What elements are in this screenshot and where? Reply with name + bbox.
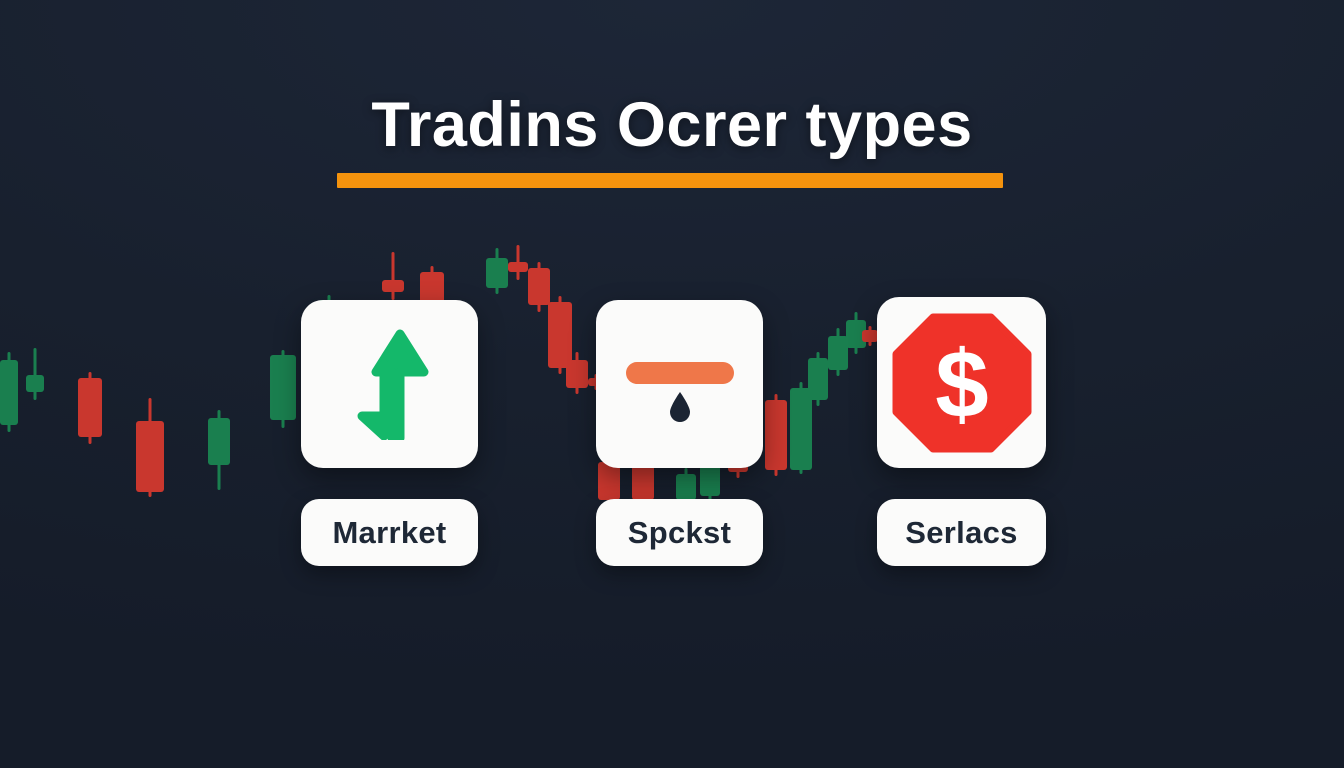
candlestick-wick bbox=[149, 398, 152, 497]
candlestick bbox=[208, 410, 230, 490]
candlestick-body bbox=[382, 280, 404, 292]
candlestick-body bbox=[548, 302, 572, 368]
order-type-label-stop-loss-text: Serlacs bbox=[905, 515, 1017, 551]
candlestick bbox=[528, 262, 550, 312]
candlestick bbox=[846, 312, 866, 354]
candlestick bbox=[26, 348, 44, 400]
candlestick-body bbox=[26, 375, 44, 392]
candlestick-wick bbox=[517, 245, 520, 280]
candlestick-wick bbox=[282, 350, 285, 428]
order-type-card-stop[interactable] bbox=[596, 300, 763, 468]
slide-canvas: Tradins Ocrer types Marrket Spckst bbox=[0, 0, 1344, 768]
candlestick-body bbox=[78, 378, 102, 437]
candlestick-body bbox=[765, 400, 787, 470]
order-type-label-market-text: Marrket bbox=[332, 515, 446, 551]
candlestick-body bbox=[790, 388, 812, 470]
candlestick-body bbox=[486, 258, 508, 288]
candlestick-body bbox=[270, 355, 296, 420]
candlestick bbox=[790, 382, 812, 474]
candlestick-wick bbox=[538, 262, 541, 312]
title-block: Tradins Ocrer types bbox=[0, 92, 1344, 158]
candlestick-body bbox=[508, 262, 528, 272]
candlestick-wick bbox=[869, 326, 872, 346]
order-type-card-market[interactable] bbox=[301, 300, 478, 468]
candlestick-wick bbox=[34, 348, 37, 400]
candlestick bbox=[382, 252, 404, 300]
candlestick bbox=[862, 326, 878, 346]
candlestick bbox=[0, 352, 18, 432]
candlestick-wick bbox=[559, 296, 562, 374]
candlestick-wick bbox=[576, 352, 579, 394]
candlestick-body bbox=[528, 268, 550, 305]
page-title: Tradins Ocrer types bbox=[0, 92, 1344, 158]
order-type-label-stop[interactable]: Spckst bbox=[596, 499, 763, 566]
candlestick bbox=[508, 245, 528, 280]
candlestick-wick bbox=[775, 394, 778, 476]
title-underline-bar bbox=[337, 173, 1003, 188]
candlestick bbox=[566, 352, 588, 394]
candlestick-wick bbox=[817, 352, 820, 406]
candlestick-wick bbox=[855, 312, 858, 354]
candlestick-wick bbox=[837, 328, 840, 376]
order-type-card-stop-loss[interactable]: $ bbox=[877, 297, 1046, 468]
order-type-label-stop-text: Spckst bbox=[628, 515, 731, 551]
candlestick-body bbox=[136, 421, 164, 492]
candlestick-body bbox=[828, 336, 848, 370]
candlestick-body bbox=[846, 320, 866, 348]
candlestick-wick bbox=[8, 352, 11, 432]
candlestick bbox=[486, 248, 508, 294]
svg-text:$: $ bbox=[935, 331, 988, 438]
candlestick-body bbox=[700, 464, 720, 496]
candlestick-body bbox=[0, 360, 18, 425]
candlestick bbox=[548, 296, 572, 374]
stop-sign-dollar-icon: $ bbox=[892, 313, 1032, 453]
order-type-label-stop-loss[interactable]: Serlacs bbox=[877, 499, 1046, 566]
candlestick-body bbox=[808, 358, 828, 400]
candlestick-wick bbox=[89, 372, 92, 444]
candlestick bbox=[78, 372, 102, 444]
candlestick bbox=[270, 350, 296, 428]
candlestick bbox=[828, 328, 848, 376]
candlestick bbox=[765, 394, 787, 476]
candlestick-wick bbox=[800, 382, 803, 474]
candlestick-body bbox=[208, 418, 230, 465]
candlestick bbox=[136, 398, 164, 497]
candlestick bbox=[808, 352, 828, 406]
horizontal-bar-droplet-icon bbox=[620, 344, 740, 424]
order-type-label-market[interactable]: Marrket bbox=[301, 499, 478, 566]
candlestick-body bbox=[566, 360, 588, 388]
candlestick-wick bbox=[218, 410, 221, 490]
candlestick-body bbox=[676, 474, 696, 500]
bidirectional-arrow-icon bbox=[338, 328, 442, 440]
candlestick-body bbox=[862, 330, 878, 342]
candlestick-wick bbox=[392, 252, 395, 300]
candlestick-wick bbox=[496, 248, 499, 294]
